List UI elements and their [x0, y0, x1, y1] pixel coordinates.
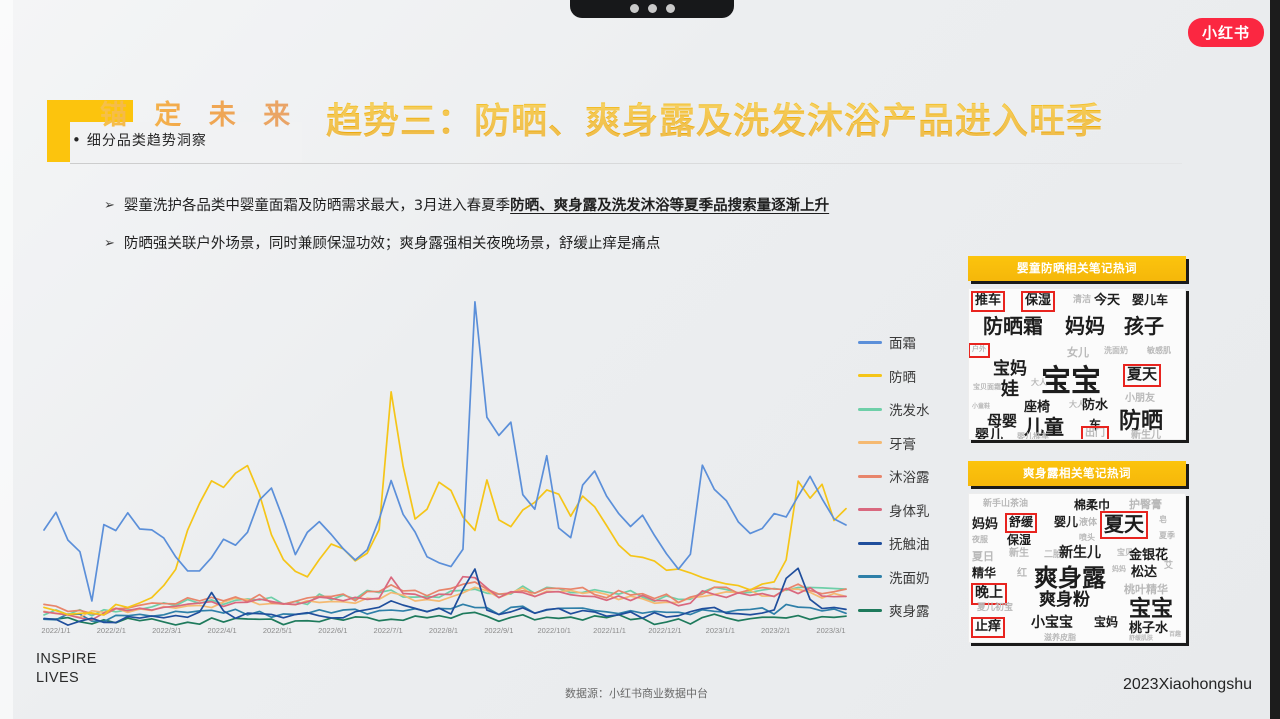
- legend-label: 沐浴露: [889, 466, 930, 486]
- wordcloud-highlight-box: [971, 291, 1005, 312]
- wordcloud-word: 娃: [1001, 381, 1019, 399]
- wordcloud-word: 大人: [1031, 379, 1047, 387]
- chart-series-面霜: [44, 302, 846, 601]
- wordcloud-word: 宝宝: [1129, 599, 1173, 621]
- chart-series-防晒: [44, 392, 846, 615]
- bullet-plain: 防晒强关联户外场景，同时兼顾保湿功效；爽身露强相关夜晚场景，舒缓止痒是痛点: [124, 236, 661, 252]
- wordcloud-title: 爽身露相关笔记热词: [968, 461, 1186, 486]
- legend-item[interactable]: 洗发水: [858, 399, 968, 419]
- wordcloud-word: 宝贝面霜: [973, 384, 1001, 391]
- wordcloud-word: 爽身露: [1034, 566, 1106, 590]
- wordcloud-word: 防水: [1082, 399, 1108, 412]
- wordcloud-word: 清洁: [1073, 296, 1091, 305]
- x-axis-tick: 2022/7/1: [374, 626, 403, 635]
- legend-color-swatch: [858, 609, 882, 612]
- wordcloud-word: 精华: [972, 567, 996, 579]
- x-axis-tick: 2022/4/1: [207, 626, 236, 635]
- xiaohongshu-logo: 小红书: [1188, 18, 1264, 47]
- wordcloud-word: 敏感肌: [1147, 347, 1171, 355]
- x-axis-tick: 2022/11/1: [593, 626, 626, 635]
- x-axis-tick: 2022/1/1: [41, 626, 70, 635]
- legend-label: 爽身露: [889, 600, 930, 620]
- page-title: 趋势三：防晒、爽身露及洗发沐浴产品进入旺季: [326, 92, 1103, 144]
- x-axis-tick: 2022/3/1: [152, 626, 181, 635]
- wordcloud-word: 小朋友: [1125, 394, 1155, 404]
- wordcloud-word: 洗面奶: [1104, 347, 1128, 355]
- x-axis-tick: 2022/2/1: [97, 626, 126, 635]
- slide-header: 锚 定 未 来 •细分品类趋势洞察 趋势三：防晒、爽身露及洗发沐浴产品进入旺季: [0, 86, 1280, 158]
- wordcloud-word: 婴儿: [1054, 516, 1078, 528]
- x-axis-tick: 2022/9/1: [484, 626, 513, 635]
- wordcloud-word: 婴儿车: [1132, 294, 1168, 306]
- wordcloud-word: 防晒霜: [983, 316, 1043, 336]
- wordcloud-word: 孩子: [1124, 316, 1164, 336]
- legend-label: 抚触油: [889, 533, 930, 553]
- wordcloud-word: 婴儿推车: [1017, 433, 1049, 440]
- wordcloud-panel-powder: 爽身露相关笔记热词 新手山茶油棉柔巾护臀膏妈妈舒缓婴儿液体夏天夜服保湿喷头皂夏季…: [968, 461, 1186, 643]
- wordcloud-word: 金银花: [1129, 549, 1168, 562]
- wordcloud-highlight-box: [971, 617, 1005, 638]
- wordcloud-title: 婴童防晒相关笔记热词: [968, 256, 1186, 281]
- wordcloud-word: 女儿: [1067, 347, 1089, 358]
- legend-color-swatch: [858, 575, 882, 578]
- wordcloud-word: 宝妈: [993, 361, 1027, 378]
- x-axis-tick: 2023/3/1: [816, 626, 845, 635]
- wordcloud-panel-sunscreen: 婴童防晒相关笔记热词 推车保湿清洁今天婴儿车防晒霜妈妈孩子户外女儿洗面奶敏感肌宝…: [968, 256, 1186, 440]
- legend-color-swatch: [858, 508, 882, 511]
- wordcloud-highlight-box: [968, 343, 990, 358]
- wordcloud-word: 桃叶精华: [1124, 584, 1168, 595]
- wordcloud-word: 夏季: [1159, 532, 1175, 540]
- legend-color-swatch: [858, 374, 882, 377]
- legend-color-swatch: [858, 341, 882, 344]
- wordcloud-word: 爽身粉: [1039, 592, 1090, 609]
- legend-label: 面霜: [889, 332, 916, 352]
- x-axis-tick: 2022/8/1: [429, 626, 458, 635]
- copyright-year: 2023Xiaohongshu: [1123, 676, 1252, 694]
- legend-label: 洗发水: [889, 399, 930, 419]
- wordcloud-word: 喷头: [1079, 534, 1095, 542]
- legend-label: 防晒: [889, 366, 916, 386]
- bullet-item: ➢防晒强关联户外场景，同时兼顾保湿功效；爽身露强相关夜晚场景，舒缓止痒是痛点: [104, 234, 984, 256]
- header-divider: [70, 163, 1182, 164]
- bullet-arrow-icon: ➢: [104, 234, 115, 254]
- legend-item[interactable]: 身体乳: [858, 500, 968, 520]
- legend-item[interactable]: 防晒: [858, 366, 968, 386]
- wordcloud-word: 妈妈: [1112, 566, 1126, 573]
- wordcloud-word: 今天: [1094, 294, 1120, 307]
- wordcloud-word: 夏儿初宝: [977, 604, 1013, 613]
- legend-item[interactable]: 面霜: [858, 332, 968, 352]
- x-axis-tick: 2022/6/1: [318, 626, 347, 635]
- x-axis-tick: 2023/1/1: [706, 626, 735, 635]
- wordcloud-word: 舒缓肌肤: [1129, 636, 1153, 642]
- chart-svg: [40, 300, 850, 630]
- wordcloud-word: 新手山茶油: [983, 500, 1028, 509]
- wordcloud-word: 婴儿: [975, 429, 1003, 440]
- legend-item[interactable]: 沐浴露: [858, 466, 968, 486]
- legend-label: 洗面奶: [889, 567, 930, 587]
- legend-color-swatch: [858, 408, 882, 411]
- wordcloud-word: 小童鞋: [972, 404, 990, 410]
- wordcloud-word: 新生儿: [1131, 431, 1161, 440]
- wordcloud-highlight-box: [1021, 291, 1055, 312]
- bullet-item: ➢婴童洗护各品类中婴童面霜及防晒需求最大，3月进入春夏季防晒、爽身露及洗发沐浴等…: [104, 196, 984, 218]
- wordcloud-highlight-box: [1081, 426, 1109, 440]
- wordcloud-word: 夜服: [972, 536, 988, 544]
- wordcloud-word: 新生儿: [1059, 546, 1101, 560]
- wordcloud-word: 艾: [1164, 562, 1173, 571]
- wordcloud-word: 松达: [1131, 566, 1157, 579]
- bullet-list: ➢婴童洗护各品类中婴童面霜及防晒需求最大，3月进入春夏季防晒、爽身露及洗发沐浴等…: [104, 196, 984, 272]
- header-kicker: 锚 定 未 来: [100, 93, 299, 132]
- legend-color-swatch: [858, 475, 882, 478]
- legend-item[interactable]: 牙膏: [858, 433, 968, 453]
- wordcloud-word: 棉柔巾: [1074, 499, 1110, 511]
- legend-color-swatch: [858, 542, 882, 545]
- bullet-arrow-icon: ➢: [104, 196, 115, 216]
- wordcloud-word: 妈妈: [972, 518, 998, 531]
- inspire-line-1: INSPIRE: [36, 650, 97, 669]
- wordcloud-word: 宝宝: [1041, 367, 1101, 397]
- trend-line-chart: [40, 300, 850, 630]
- wordcloud-highlight-box: [1123, 364, 1161, 387]
- notch-dot-2: [648, 4, 657, 13]
- wordcloud-word: 桃子水: [1129, 622, 1168, 635]
- wordcloud-word: 皂: [1159, 516, 1167, 524]
- wordcloud-word: 红: [1017, 569, 1027, 579]
- legend-color-swatch: [858, 441, 882, 444]
- wordcloud-body: 推车保湿清洁今天婴儿车防晒霜妈妈孩子户外女儿洗面奶敏感肌宝妈宝宝夏天娃大人小朋友…: [968, 288, 1186, 440]
- notch-dot-1: [630, 4, 639, 13]
- legend-item[interactable]: 洗面奶: [858, 567, 968, 587]
- wordcloud-highlight-box: [1100, 511, 1148, 539]
- data-source-note: 数据源：小红书商业数据中台: [565, 685, 708, 701]
- legend-label: 身体乳: [889, 500, 930, 520]
- inspire-line-2: LIVES: [36, 669, 97, 688]
- x-axis-tick: 2022/5/1: [263, 626, 292, 635]
- wordcloud-word: 百趣: [1169, 632, 1181, 638]
- wordcloud-word: 母婴: [987, 414, 1017, 429]
- wordcloud-highlight-box: [1005, 513, 1037, 533]
- inspire-lives-mark: INSPIRE LIVES: [36, 650, 97, 687]
- chart-legend: 面霜防晒洗发水牙膏沐浴露身体乳抚触油洗面奶爽身露: [858, 332, 968, 620]
- chart-x-axis: 2022/1/12022/2/12022/3/12022/4/12022/5/1…: [40, 626, 852, 642]
- bullet-emphasis: 防晒、爽身露及洗发沐浴等夏季品搜索量逐渐上升: [510, 198, 829, 214]
- wordcloud-body: 新手山茶油棉柔巾护臀膏妈妈舒缓婴儿液体夏天夜服保湿喷头皂夏季夏日新生二胎新生儿宝…: [968, 493, 1186, 643]
- wordcloud-word: 宝妈: [1094, 616, 1118, 628]
- header-subtitle-text: 细分品类趋势洞察: [87, 133, 207, 149]
- wordcloud-word: 妈妈: [1065, 316, 1105, 336]
- wordcloud-word: 夏日: [972, 551, 994, 562]
- bullet-plain: 婴童洗护各品类中婴童面霜及防晒需求最大，3月进入春夏季: [124, 198, 510, 214]
- legend-item[interactable]: 抚触油: [858, 533, 968, 553]
- wordcloud-word: 护臀膏: [1129, 499, 1162, 510]
- bullet-text: 婴童洗护各品类中婴童面霜及防晒需求最大，3月进入春夏季防晒、爽身露及洗发沐浴等夏…: [124, 196, 829, 218]
- legend-label: 牙膏: [889, 433, 916, 453]
- device-notch: [570, 0, 734, 18]
- x-axis-tick: 2022/10/1: [538, 626, 571, 635]
- wordcloud-word: 液体: [1079, 519, 1097, 528]
- wordcloud-highlight-box: [971, 583, 1007, 605]
- header-subtitle: •细分品类趋势洞察: [72, 130, 207, 150]
- bullet-dot-icon: •: [72, 131, 82, 149]
- slide-canvas: 小红书 锚 定 未 来 •细分品类趋势洞察 趋势三：防晒、爽身露及洗发沐浴产品进…: [0, 0, 1280, 719]
- notch-dot-3: [666, 4, 675, 13]
- x-axis-tick: 2022/12/1: [648, 626, 681, 635]
- wordcloud-word: 保湿: [1007, 534, 1031, 546]
- wordcloud-word: 小宝宝: [1031, 616, 1073, 630]
- legend-item[interactable]: 爽身露: [858, 600, 968, 620]
- bullet-text: 防晒强关联户外场景，同时兼顾保湿功效；爽身露强相关夜晚场景，舒缓止痒是痛点: [124, 234, 661, 256]
- x-axis-tick: 2023/2/1: [761, 626, 790, 635]
- wordcloud-word: 滋养皮脂: [1044, 634, 1076, 642]
- wordcloud-word: 新生: [1009, 549, 1029, 559]
- wordcloud-word: 座椅: [1024, 401, 1050, 414]
